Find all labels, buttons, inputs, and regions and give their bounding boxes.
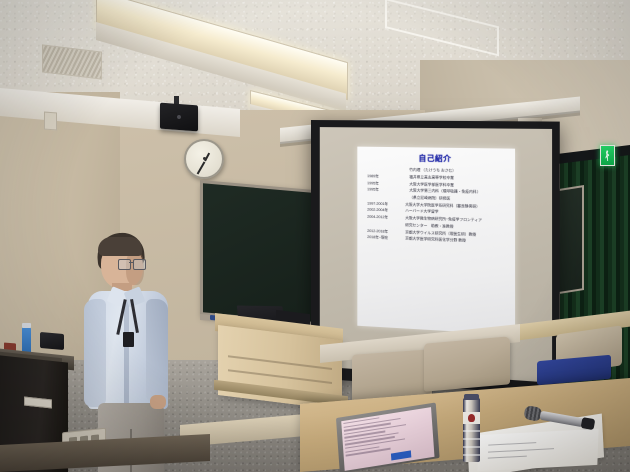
- slide-presenter-name: 竹内理 （たけうち おさむ）: [409, 168, 511, 174]
- slide-row-year: 1989年: [361, 174, 409, 179]
- chalkboard-surface: [203, 183, 315, 322]
- slide-row-year: 1995年: [361, 181, 409, 186]
- clock-center-pin: [203, 157, 206, 160]
- projector-lens-icon: [177, 115, 181, 119]
- glasses-lens-left: [118, 259, 131, 270]
- light-switch[interactable]: [44, 112, 57, 131]
- tumbler-logo-icon: [468, 414, 475, 422]
- paper-text-line: [488, 442, 536, 446]
- paper-text-line: [488, 448, 554, 453]
- slide-row-text: 大阪大学第三内科（現呼吸器・免疫内科）: [409, 189, 511, 196]
- slide-timeline-rows: 1989年福井県立高志高等学校卒業1995年大阪大学医学部医学科卒業1995年大…: [361, 174, 511, 245]
- hair-front: [98, 237, 142, 256]
- chair-backrest: [424, 336, 510, 392]
- slide-row-text: （県立尼崎病院）研修医: [409, 195, 511, 202]
- tumbler-ring: [463, 438, 480, 440]
- video-camera-icon: [40, 332, 64, 350]
- tumbler-ring: [463, 454, 480, 456]
- shirt-placket: [124, 293, 129, 405]
- slide-row-year: 2018年−現在: [361, 235, 405, 241]
- slide-row-year: 1997-2001年: [361, 201, 405, 206]
- slide-title: 自己紹介: [361, 152, 511, 166]
- slide-row-year: 1995年: [361, 187, 409, 192]
- slide-row-year: 2012-2018年: [361, 228, 405, 234]
- clock-minute-hand: [197, 162, 205, 175]
- wall-clock-icon: [184, 139, 224, 179]
- running-figure-icon: [605, 150, 610, 161]
- tumbler-ring: [463, 446, 480, 448]
- glasses-icon: [118, 259, 146, 268]
- slide-row-text: 京都大学医学研究科医化学分野 教授: [405, 237, 511, 245]
- slide-row-year: 2002-2004年: [361, 208, 405, 213]
- exit-sign-icon: [600, 145, 615, 166]
- microphone-end-cap: [581, 417, 596, 430]
- lectern-trim: [228, 370, 332, 384]
- arm-left: [84, 299, 106, 407]
- paper-text-line: [487, 456, 527, 459]
- tumbler-cap: [464, 394, 479, 400]
- arm-right: [146, 299, 168, 403]
- screen-selection-highlight: [391, 450, 411, 460]
- lectern-trim: [228, 356, 332, 370]
- lecture-room-photo: 自己紹介 竹内理 （たけうち おさむ） 1989年福井県立高志高等学校卒業199…: [0, 0, 630, 472]
- id-badge: [123, 332, 134, 347]
- glasses-lens-right: [133, 259, 146, 270]
- tumbler-ring: [463, 430, 480, 432]
- slide-name-line: 竹内理 （たけうち おさむ）: [361, 167, 511, 174]
- slide-row-text: 福井県立高志高等学校卒業: [409, 175, 511, 181]
- handout-papers-secondary[interactable]: [477, 429, 598, 471]
- ceiling-projector-icon: [160, 103, 198, 132]
- bottle-cap: [22, 323, 31, 328]
- hand: [150, 395, 166, 409]
- slide-timeline-row: 1989年福井県立高志高等学校卒業: [361, 174, 511, 181]
- slide-row-text: 大阪大学医学部医学科卒業: [409, 182, 511, 189]
- slide-row-year: 2004-2012年: [361, 215, 405, 221]
- chalkboard-main: [200, 180, 318, 325]
- presentation-slide: 自己紹介 竹内理 （たけうち おさむ） 1989年福井県立高志高等学校卒業199…: [357, 147, 515, 335]
